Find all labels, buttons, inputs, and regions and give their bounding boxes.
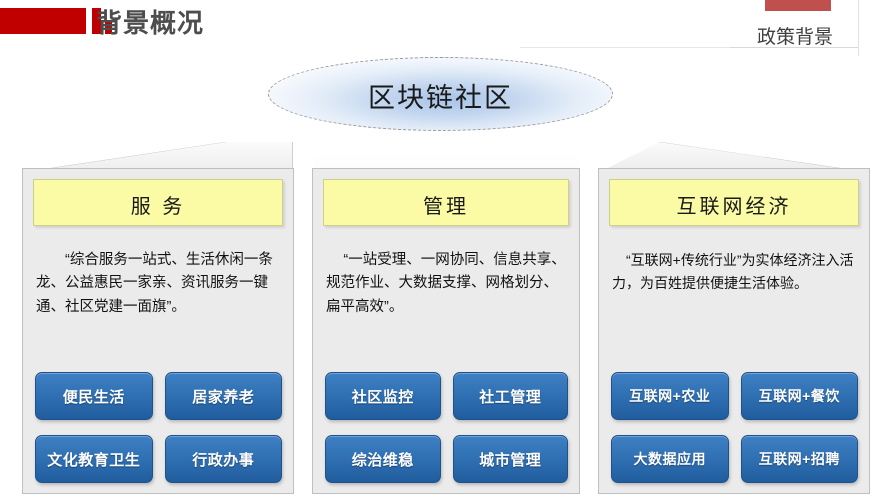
button-bigdata-application[interactable]: 大数据应用	[611, 435, 729, 483]
column-service: 服 务 “综合服务一站式、生活休闲一条龙、公益惠民一家亲、资讯服务一键通、社区党…	[22, 168, 294, 494]
header-rule	[520, 47, 730, 48]
column-2-body-text: “一站受理、一网协同、信息共享、规范作业、大数据支撑、网格划分、扁平高效”。	[326, 249, 567, 319]
column-3-heading-label: 互联网经济	[610, 190, 858, 219]
column-3-button-grid: 互联网+农业 互联网+餐饮 大数据应用 互联网+招聘	[611, 372, 858, 483]
column-management: 管理 “一站受理、一网协同、信息共享、规范作业、大数据支撑、网格划分、扁平高效”…	[312, 168, 580, 494]
button-shequ-jiankong[interactable]: 社区监控	[325, 372, 441, 420]
button-bianmin-shenghuo[interactable]: 便民生活	[35, 372, 153, 420]
column-1-button-grid: 便民生活 居家养老 文化教育卫生 行政办事	[35, 372, 282, 483]
header-vertical-rule	[858, 0, 859, 56]
column-1-heading-box: 服 务	[33, 179, 283, 226]
button-internet-recruitment[interactable]: 互联网+招聘	[741, 435, 859, 483]
button-zongzhi-weiwen[interactable]: 综治维稳	[325, 435, 441, 483]
column-3-heading-box: 互联网经济	[609, 179, 859, 226]
column-1-heading-label: 服 务	[34, 190, 282, 219]
button-xingzheng-banshi[interactable]: 行政办事	[165, 435, 283, 483]
page-title: 背景概况	[96, 3, 204, 40]
column-2-button-grid: 社区监控 社工管理 综治维稳 城市管理	[325, 372, 568, 483]
header-red-bar-icon	[0, 8, 86, 34]
button-wenhua-jiaoyu-weisheng[interactable]: 文化教育卫生	[35, 435, 153, 483]
button-jujia-yanglao[interactable]: 居家养老	[165, 372, 283, 420]
button-internet-agriculture[interactable]: 互联网+农业	[611, 372, 729, 420]
column-2-heading-label: 管理	[324, 190, 568, 219]
button-chengshi-guanli[interactable]: 城市管理	[453, 435, 569, 483]
column-1-body-text: “综合服务一站式、生活休闲一条龙、公益惠民一家亲、资讯服务一键通、社区党建一面旗…	[36, 249, 281, 319]
tab-underline	[728, 47, 858, 48]
button-shegong-guanli[interactable]: 社工管理	[453, 372, 569, 420]
page-header: 背景概况 政策背景	[0, 0, 892, 48]
tab-policy-background[interactable]: 政策背景	[735, 22, 855, 49]
tab-red-marker-icon	[765, 0, 831, 11]
column-internet-economy: 互联网经济 “互联网+传统行业”为实体经济注入活力，为百姓提供便捷生活体验。 互…	[598, 168, 870, 494]
column-2-heading-box: 管理	[323, 179, 569, 226]
center-ellipse-label: 区块链社区	[268, 76, 613, 115]
button-internet-catering[interactable]: 互联网+餐饮	[741, 372, 859, 420]
column-3-body-text: “互联网+传统行业”为实体经济注入活力，为百姓提供便捷生活体验。	[612, 249, 857, 294]
